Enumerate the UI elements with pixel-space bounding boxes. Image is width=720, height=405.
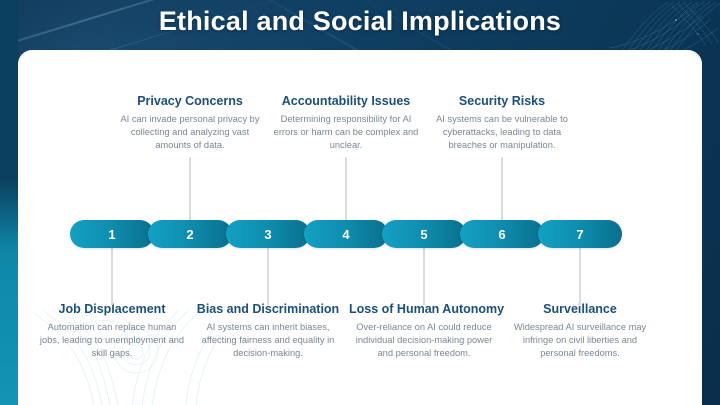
item-description: Over-reliance on AI could reduce individ… xyxy=(349,321,499,361)
number-pill-4[interactable]: 4 xyxy=(304,220,388,248)
item-block-3: Bias and DiscriminationAI systems can in… xyxy=(193,302,343,361)
connector-line xyxy=(345,157,346,220)
connector-line xyxy=(501,157,502,220)
connector-line xyxy=(423,248,424,305)
item-description: Automation can replace human jobs, leadi… xyxy=(37,321,187,361)
pill-number-label: 5 xyxy=(420,227,427,242)
item-description: AI can invade personal privacy by collec… xyxy=(115,113,265,153)
item-block-5: Loss of Human AutonomyOver-reliance on A… xyxy=(349,302,499,361)
pill-number-label: 2 xyxy=(186,227,193,242)
item-description: Determining responsibility for AI errors… xyxy=(271,113,421,153)
item-description: AI systems can inherit biases, affecting… xyxy=(193,321,343,361)
item-description: Widespread AI surveillance may infringe … xyxy=(505,321,655,361)
item-block-7: SurveillanceWidespread AI surveillance m… xyxy=(505,302,655,361)
connector-line xyxy=(579,248,580,305)
item-title: Accountability Issues xyxy=(271,94,421,108)
number-pill-row: 1234567 xyxy=(18,220,702,252)
item-title: Security Risks xyxy=(427,94,577,108)
item-title: Privacy Concerns xyxy=(115,94,265,108)
content-card: Job DisplacementAutomation can replace h… xyxy=(18,50,702,405)
item-block-1: Job DisplacementAutomation can replace h… xyxy=(37,302,187,361)
item-block-2: Privacy ConcernsAI can invade personal p… xyxy=(115,94,265,153)
pill-number-label: 6 xyxy=(498,227,505,242)
pill-number-label: 4 xyxy=(342,227,349,242)
number-pill-5[interactable]: 5 xyxy=(382,220,466,248)
connector-line xyxy=(111,248,112,305)
number-pill-7[interactable]: 7 xyxy=(538,220,622,248)
page-title: Ethical and Social Implications xyxy=(0,6,720,37)
item-block-6: Security RisksAI systems can be vulnerab… xyxy=(427,94,577,153)
pill-number-label: 7 xyxy=(576,227,583,242)
number-pill-1[interactable]: 1 xyxy=(70,220,154,248)
connector-line xyxy=(189,157,190,220)
number-pill-6[interactable]: 6 xyxy=(460,220,544,248)
pill-number-label: 1 xyxy=(108,227,115,242)
left-accent-bar xyxy=(0,0,18,405)
item-description: AI systems can be vulnerable to cyberatt… xyxy=(427,113,577,153)
slide-root: Ethical and Social Implications xyxy=(0,0,720,405)
item-block-4: Accountability IssuesDetermining respons… xyxy=(271,94,421,153)
pill-number-label: 3 xyxy=(264,227,271,242)
connector-line xyxy=(267,248,268,305)
number-pill-3[interactable]: 3 xyxy=(226,220,310,248)
number-pill-2[interactable]: 2 xyxy=(148,220,232,248)
